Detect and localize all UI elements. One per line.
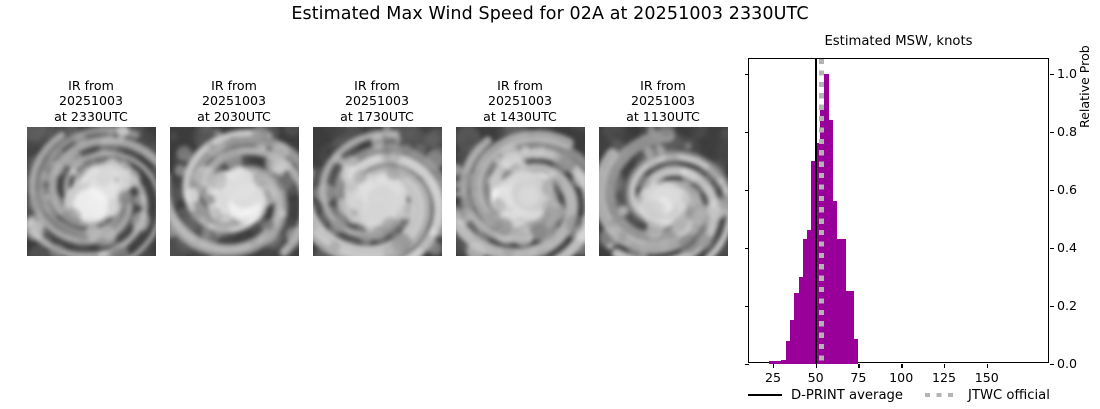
y-axis-label: Relative Prob: [1077, 45, 1092, 128]
x-tick: [901, 364, 902, 368]
x-tick: [816, 364, 817, 368]
y-tick-right: [1050, 132, 1054, 133]
y-tick-left: [745, 190, 749, 191]
page-title: Estimated Max Wind Speed for 02A at 2025…: [0, 4, 1100, 24]
dashed-line-swatch-icon: [925, 393, 959, 398]
y-tick-label: 0.8: [1057, 124, 1077, 139]
y-tick-right: [1050, 248, 1054, 249]
chart-legend: D-PRINT average JTWC official: [748, 384, 1078, 406]
ir-panel-2330utc: IR from 20251003 at 2330UTC: [20, 78, 162, 256]
legend-item-jtwc-official: JTWC official: [925, 384, 1050, 406]
legend-item-dprint-average: D-PRINT average: [748, 384, 903, 406]
ir-panel-1730utc-image: [313, 127, 442, 256]
y-tick-left: [745, 248, 749, 249]
y-tick-right: [1050, 306, 1054, 307]
ir-panel-1130utc: IR from 20251003 at 1130UTC: [592, 78, 734, 256]
y-tick-label: 1.0: [1057, 66, 1077, 81]
ir-panel-1130utc-caption: IR from 20251003 at 1130UTC: [592, 78, 734, 124]
y-tick-right: [1050, 190, 1054, 191]
ir-panel-2030utc: IR from 20251003 at 2030UTC: [163, 78, 305, 256]
y-tick-right: [1050, 74, 1054, 75]
solid-line-swatch-icon: [748, 394, 782, 396]
histogram-chart: 2550751001251500.00.20.40.60.81.0: [748, 58, 1049, 363]
x-tick: [944, 364, 945, 368]
histogram-bar: [854, 339, 858, 364]
dprint-average-line: [815, 59, 817, 364]
satellite-panel-strip: IR from 20251003 at 2330UTCIR from 20251…: [0, 78, 740, 288]
ir-panel-1430utc-caption: IR from 20251003 at 1430UTC: [449, 78, 591, 124]
x-tick: [773, 364, 774, 368]
y-tick-right: [1050, 364, 1054, 365]
ir-panel-1730utc: IR from 20251003 at 1730UTC: [306, 78, 448, 256]
y-tick-left: [745, 364, 749, 365]
x-tick: [858, 364, 859, 368]
x-tick-label: 150: [962, 370, 1012, 385]
y-tick-label: 0.2: [1057, 298, 1077, 313]
legend-label-dprint-average: D-PRINT average: [791, 388, 903, 403]
ir-panel-2030utc-image: [170, 127, 299, 256]
y-tick-label: 0.6: [1057, 182, 1077, 197]
ir-panel-2330utc-image: [27, 127, 156, 256]
y-tick-label: 0.4: [1057, 240, 1077, 255]
y-tick-left: [745, 74, 749, 75]
plot-frame: 2550751001251500.00.20.40.60.81.0: [748, 58, 1049, 363]
legend-label-jtwc-official: JTWC official: [968, 388, 1050, 403]
y-tick-left: [745, 306, 749, 307]
x-tick: [987, 364, 988, 368]
ir-panel-1430utc: IR from 20251003 at 1430UTC: [449, 78, 591, 256]
chart-title: Estimated MSW, knots: [748, 34, 1049, 49]
ir-panel-1430utc-image: [456, 127, 585, 256]
ir-panel-1730utc-caption: IR from 20251003 at 1730UTC: [306, 78, 448, 124]
histogram-bars: [749, 59, 1050, 364]
jtwc-official-line: [819, 59, 824, 364]
y-tick-label: 0.0: [1057, 356, 1077, 371]
ir-panel-1130utc-image: [599, 127, 728, 256]
ir-panel-2330utc-caption: IR from 20251003 at 2330UTC: [20, 78, 162, 124]
ir-panel-2030utc-caption: IR from 20251003 at 2030UTC: [163, 78, 305, 124]
y-tick-left: [745, 132, 749, 133]
